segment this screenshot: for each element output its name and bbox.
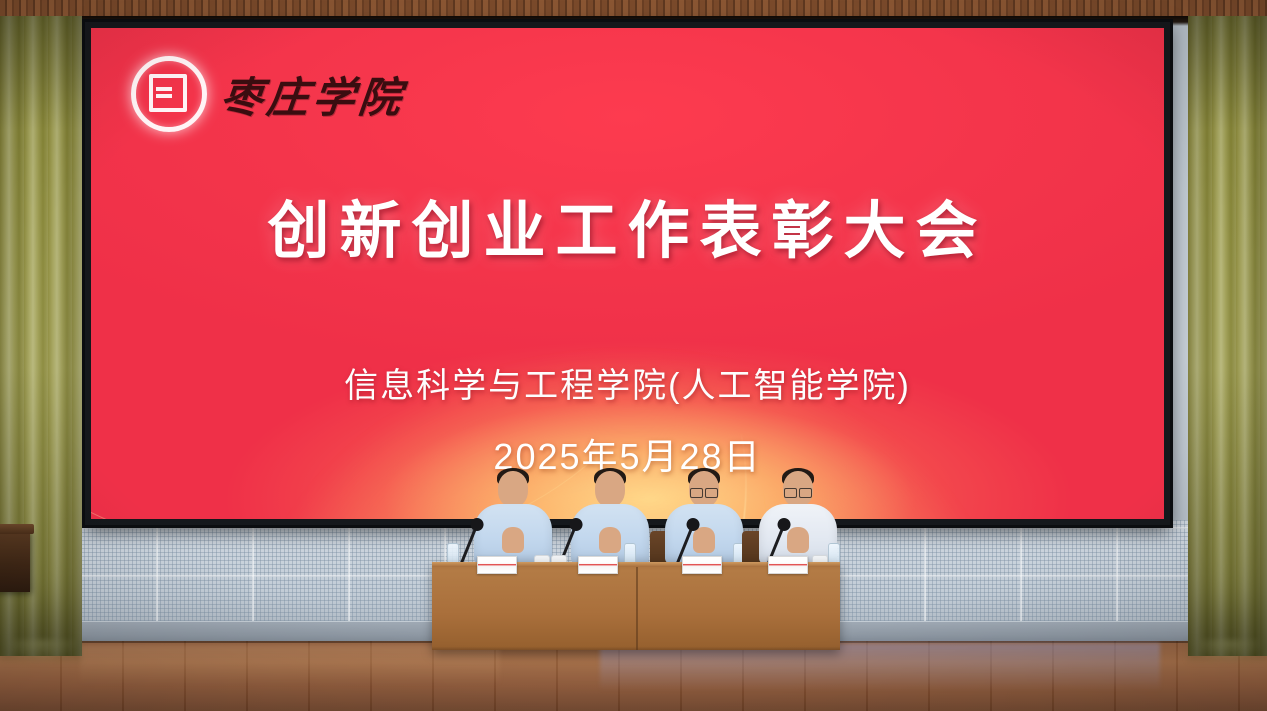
floor-reflection-warm: [80, 645, 500, 685]
event-title: 创新创业工作表彰大会: [91, 180, 1164, 270]
event-organizer: 信息科学与工程学院(人工智能学院): [91, 358, 1164, 407]
eyeglasses: [690, 488, 718, 496]
led-screen: 枣庄学院 创新创业工作表彰大会 信息科学与工程学院(人工智能学院) 2025年5…: [91, 28, 1164, 519]
conference-photo: 枣庄学院 创新创业工作表彰大会 信息科学与工程学院(人工智能学院) 2025年5…: [0, 0, 1267, 711]
floor-reflection: [600, 643, 1160, 691]
curtain-hem: [1188, 640, 1267, 662]
clapping-hands: [599, 527, 621, 553]
name-card: [682, 556, 722, 574]
name-card: [477, 556, 517, 574]
curtain-hem: [0, 640, 82, 662]
name-card: [578, 556, 618, 574]
stage-curtain-right: [1188, 16, 1267, 656]
seal-book-glyph: [149, 74, 187, 112]
clapping-hands: [693, 527, 715, 553]
university-seal-icon: [131, 56, 207, 132]
university-logo: 枣庄学院: [131, 56, 405, 132]
head-table: [432, 562, 840, 650]
clapping-hands: [787, 527, 809, 553]
head: [498, 471, 528, 507]
name-card: [768, 556, 808, 574]
ceiling-slat-band: [0, 0, 1267, 16]
university-name: 枣庄学院: [218, 64, 408, 125]
clapping-hands: [502, 527, 524, 553]
led-screen-frame: 枣庄学院 创新创业工作表彰大会 信息科学与工程学院(人工智能学院) 2025年5…: [85, 22, 1170, 525]
head: [595, 471, 625, 507]
eyeglasses: [784, 488, 812, 496]
lectern: [0, 530, 30, 592]
